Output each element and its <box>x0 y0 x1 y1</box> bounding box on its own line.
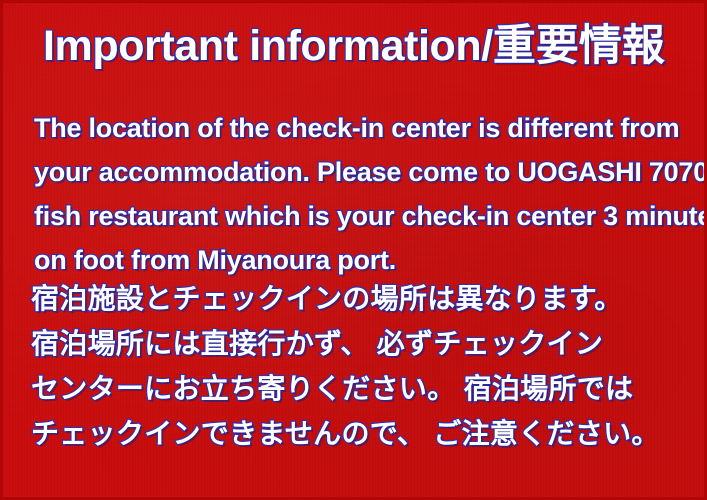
english-message-block: The location of the check-in center is d… <box>34 106 694 282</box>
japanese-message-line: チェックインできませんので、 ご注意ください。 <box>31 411 696 456</box>
english-message-line: fish restaurant which is your check-in c… <box>34 194 694 238</box>
japanese-message-line: 宿泊施設とチェックインの場所は異なります。 <box>31 276 696 321</box>
japanese-message-line: センターにお立ち寄りください。 宿泊場所では <box>31 366 696 411</box>
sign-title: Important information/重要情報 <box>43 24 665 69</box>
sign-title-japanese: 重要情報 <box>493 22 665 70</box>
sign-title-english: Important information/ <box>43 22 493 70</box>
information-sign: Important information/重要情報 The location … <box>0 0 707 500</box>
japanese-message-block: 宿泊施設とチェックインの場所は異なります。 宿泊場所には直接行かず、 必ずチェッ… <box>31 276 696 456</box>
english-message-line: The location of the check-in center is d… <box>34 106 694 150</box>
english-message-line: your accommodation. Please come to UOGAS… <box>34 150 694 194</box>
japanese-message-line: 宿泊場所には直接行かず、 必ずチェックイン <box>31 321 696 366</box>
